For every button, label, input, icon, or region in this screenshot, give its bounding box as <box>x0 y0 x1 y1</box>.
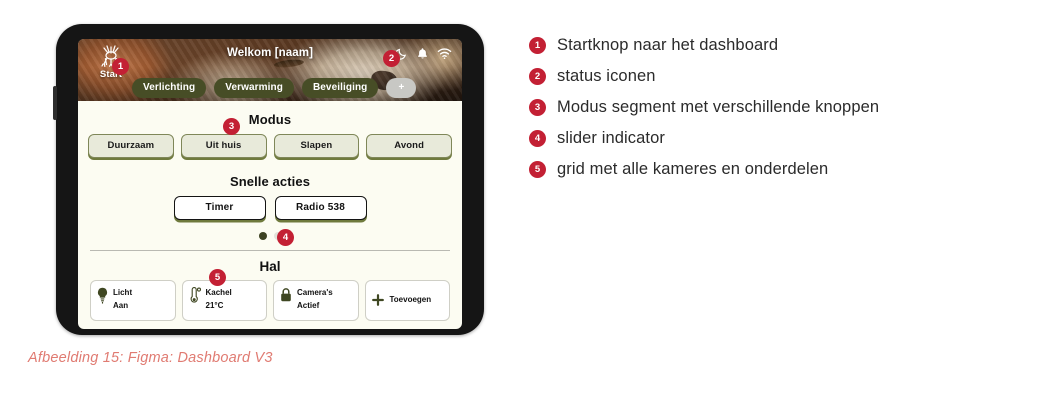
lock-icon <box>279 286 293 304</box>
category-chip-row: Verlichting Verwarming Beveiliging + <box>78 78 462 98</box>
room-title: Hal <box>88 259 452 274</box>
hero-banner-image: Start Welkom [naam] <box>78 39 462 101</box>
category-chip-verlichting[interactable]: Verlichting <box>132 78 206 98</box>
device-name: Licht <box>113 288 132 297</box>
legend-list: 1 Startknop naar het dashboard 2 status … <box>529 30 1019 185</box>
lightbulb-icon <box>96 286 109 304</box>
tablet-side-button[interactable] <box>53 86 57 120</box>
quick-action-row: Timer Radio 538 <box>88 196 452 220</box>
mode-button-slapen[interactable]: Slapen <box>274 134 360 158</box>
legend-item-2: 2 status iconen <box>529 61 1019 92</box>
legend-marker-4: 4 <box>529 130 546 147</box>
device-name: Kachel <box>206 288 232 297</box>
section-divider <box>90 250 450 251</box>
slider-dot-active[interactable] <box>259 232 267 240</box>
category-chip-beveiliging[interactable]: Beveiliging <box>302 78 378 98</box>
device-card-kachel[interactable]: Kachel 21°C <box>182 280 268 321</box>
legend-marker-5: 5 <box>529 161 546 178</box>
device-name: Camera's <box>297 288 333 297</box>
mode-button-avond[interactable]: Avond <box>366 134 452 158</box>
add-device-card[interactable]: Toevoegen <box>365 280 451 321</box>
dashboard-body: Modus Duurzaam Uit huis Slapen Avond Sne… <box>78 112 462 321</box>
bell-icon[interactable] <box>416 47 429 60</box>
callout-badge-1: 1 <box>112 58 129 75</box>
snelle-acties-title: Snelle acties <box>88 174 452 189</box>
status-icon-group <box>395 47 452 60</box>
add-device-label: Toevoegen <box>390 295 432 304</box>
legend-label-5: grid met alle kameres en onderdelen <box>557 160 828 179</box>
modus-section-title: Modus <box>88 112 452 127</box>
legend-marker-3: 3 <box>529 99 546 116</box>
slider-indicator[interactable] <box>88 232 452 240</box>
wifi-icon[interactable] <box>437 47 452 60</box>
legend-marker-1: 1 <box>529 37 546 54</box>
quick-action-radio-538[interactable]: Radio 538 <box>275 196 367 220</box>
thermometer-icon <box>188 286 202 304</box>
mode-button-uit-huis[interactable]: Uit huis <box>181 134 267 158</box>
plus-icon <box>371 292 385 307</box>
callout-badge-4: 4 <box>277 229 294 246</box>
legend-item-3: 3 Modus segment met verschillende knoppe… <box>529 92 1019 123</box>
category-chip-verwarming[interactable]: Verwarming <box>214 78 294 98</box>
legend-item-1: 1 Startknop naar het dashboard <box>529 30 1019 61</box>
quick-action-timer[interactable]: Timer <box>174 196 266 220</box>
add-category-button[interactable]: + <box>386 78 416 98</box>
legend-label-4: slider indicator <box>557 129 665 148</box>
callout-badge-3: 3 <box>223 118 240 135</box>
dog-eye-detail <box>274 58 305 68</box>
figure-caption: Afbeelding 15: Figma: Dashboard V3 <box>28 350 273 366</box>
device-card-licht[interactable]: Licht Aan <box>90 280 176 321</box>
legend-item-5: 5 grid met alle kameres en onderdelen <box>529 154 1019 185</box>
legend-label-2: status iconen <box>557 67 656 86</box>
callout-badge-5: 5 <box>209 269 226 286</box>
tablet-screen: Start Welkom [naam] <box>78 39 462 329</box>
mode-button-duurzaam[interactable]: Duurzaam <box>88 134 174 158</box>
device-card-cameras[interactable]: Camera's Actief <box>273 280 359 321</box>
device-state: Actief <box>297 301 319 310</box>
legend-item-4: 4 slider indicator <box>529 123 1019 154</box>
legend-marker-2: 2 <box>529 68 546 85</box>
device-state: Aan <box>113 301 128 310</box>
legend-label-1: Startknop naar het dashboard <box>557 36 778 55</box>
callout-badge-2: 2 <box>383 50 400 67</box>
legend-label-3: Modus segment met verschillende knoppen <box>557 98 879 117</box>
device-grid: Licht Aan Kachel 21°C <box>88 280 452 321</box>
modus-button-row: Duurzaam Uit huis Slapen Avond <box>88 134 452 158</box>
device-state: 21°C <box>206 301 224 310</box>
